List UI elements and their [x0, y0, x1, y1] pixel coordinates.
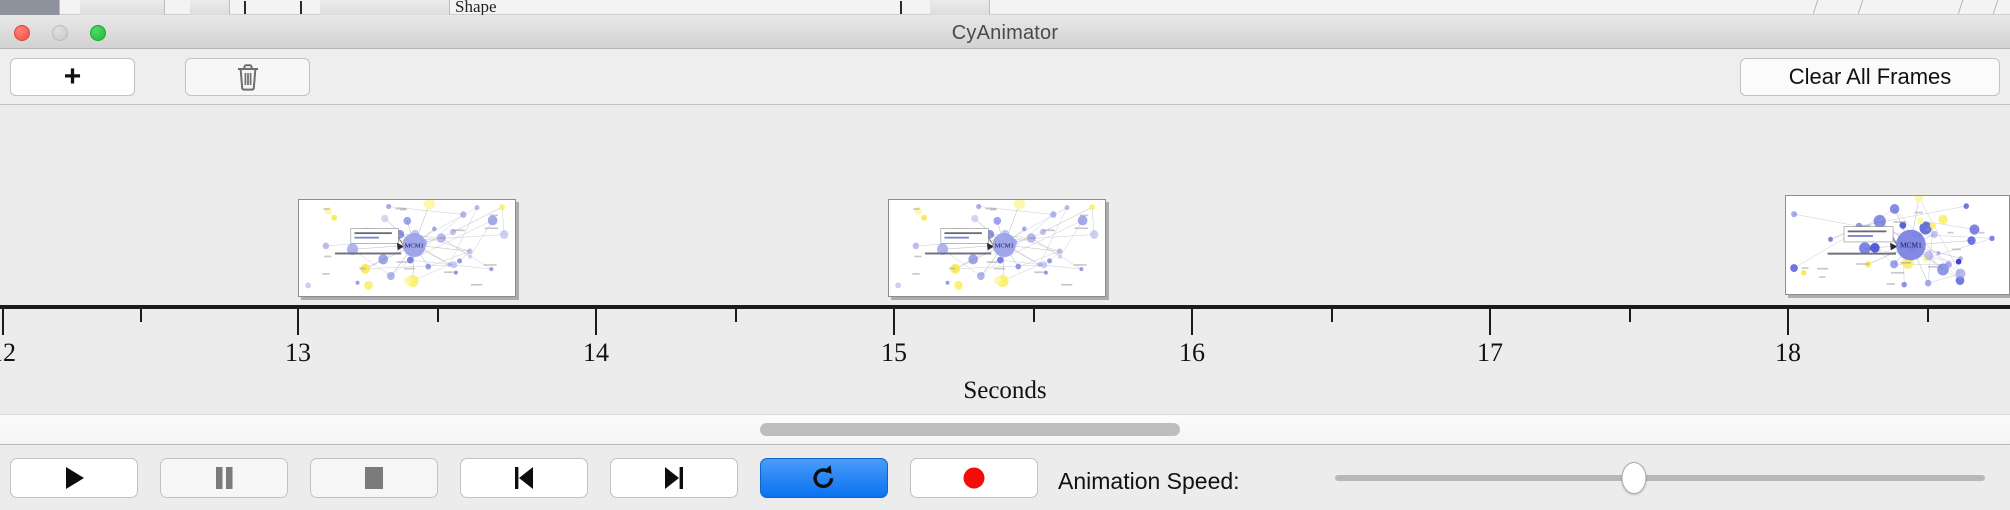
bg-chip	[320, 0, 450, 15]
pause-button[interactable]	[160, 458, 288, 498]
bg-tick	[244, 1, 246, 14]
time-axis: Seconds 12131415161718	[0, 305, 2010, 414]
axis-tick-major	[1191, 309, 1193, 335]
axis-tick-minor	[437, 309, 439, 322]
trash-icon	[235, 63, 261, 91]
axis-title: Seconds	[0, 377, 2010, 405]
stop-icon	[362, 465, 386, 491]
record-icon	[962, 466, 986, 490]
plus-icon: +	[64, 62, 82, 92]
loop-button[interactable]	[760, 458, 888, 498]
axis-tick-major	[2, 309, 4, 335]
axis-tick-major	[893, 309, 895, 335]
bg-chip	[930, 0, 990, 15]
add-frame-button[interactable]: +	[10, 58, 135, 96]
delete-frame-button[interactable]	[185, 58, 310, 96]
window-title: CyAnimator	[0, 22, 2010, 45]
axis-tick-label: 12	[0, 338, 16, 368]
background-window-strip: Shape	[0, 0, 2010, 15]
bg-divider	[1993, 0, 1999, 14]
axis-tick-major	[595, 309, 597, 335]
frames-track[interactable]: MCM1MCM1MCM1	[0, 105, 2010, 305]
pause-icon	[212, 465, 236, 491]
bg-divider	[1858, 0, 1864, 14]
frame-thumbnail[interactable]: MCM1	[888, 199, 1106, 297]
bg-divider	[1958, 0, 1964, 14]
axis-tick-label: 15	[881, 338, 907, 368]
svg-text:MCM1: MCM1	[995, 243, 1014, 250]
timeline-panel[interactable]: MCM1MCM1MCM1 Seconds 12131415161718	[0, 105, 2010, 414]
bg-divider	[1813, 0, 1819, 14]
timeline-scrollbar[interactable]	[0, 414, 2010, 444]
bg-chip	[190, 0, 230, 15]
axis-tick-major	[1787, 309, 1789, 335]
axis-line	[0, 305, 2010, 309]
axis-tick-label: 14	[583, 338, 609, 368]
cyanimator-window: CyAnimator + Clear All Frames MCM1MCM1MC…	[0, 15, 2010, 510]
frame-toolbar: + Clear All Frames	[0, 49, 2010, 105]
skip-to-start-button[interactable]	[460, 458, 588, 498]
bg-chip	[0, 0, 60, 15]
bg-chip	[80, 0, 165, 15]
play-icon	[62, 465, 86, 491]
animation-speed-track	[1335, 475, 1985, 481]
frame-thumbnail[interactable]: MCM1	[298, 199, 516, 297]
svg-text:MCM1: MCM1	[405, 243, 424, 250]
bg-tick	[900, 1, 902, 14]
axis-tick-minor	[1033, 309, 1035, 322]
bg-tick	[300, 1, 302, 14]
svg-text:MCM1: MCM1	[1900, 241, 1922, 250]
stop-button[interactable]	[310, 458, 438, 498]
record-button[interactable]	[910, 458, 1038, 498]
skip-to-end-button[interactable]	[610, 458, 738, 498]
axis-tick-label: 17	[1477, 338, 1503, 368]
timeline-scrollbar-thumb[interactable]	[760, 423, 1180, 436]
playback-toolbar: Animation Speed:	[0, 444, 2010, 510]
play-button[interactable]	[10, 458, 138, 498]
loop-icon	[811, 464, 837, 492]
axis-tick-major	[297, 309, 299, 335]
axis-tick-major	[1489, 309, 1491, 335]
clear-all-frames-button[interactable]: Clear All Frames	[1740, 58, 2000, 96]
skip-forward-icon	[662, 465, 686, 491]
clear-all-frames-label: Clear All Frames	[1789, 64, 1952, 90]
animation-speed-thumb[interactable]	[1622, 462, 1647, 494]
animation-speed-label: Animation Speed:	[1058, 468, 1240, 495]
axis-tick-minor	[735, 309, 737, 322]
animation-speed-slider[interactable]	[1335, 475, 1985, 481]
axis-tick-minor	[1629, 309, 1631, 322]
axis-tick-minor	[140, 309, 142, 322]
axis-tick-label: 13	[285, 338, 311, 368]
axis-tick-minor	[1927, 309, 1929, 322]
axis-tick-label: 18	[1775, 338, 1801, 368]
skip-backward-icon	[512, 465, 536, 491]
title-bar: CyAnimator	[0, 15, 2010, 49]
axis-tick-minor	[1331, 309, 1333, 322]
frame-thumbnail[interactable]: MCM1	[1785, 195, 2010, 295]
axis-tick-label: 16	[1179, 338, 1205, 368]
